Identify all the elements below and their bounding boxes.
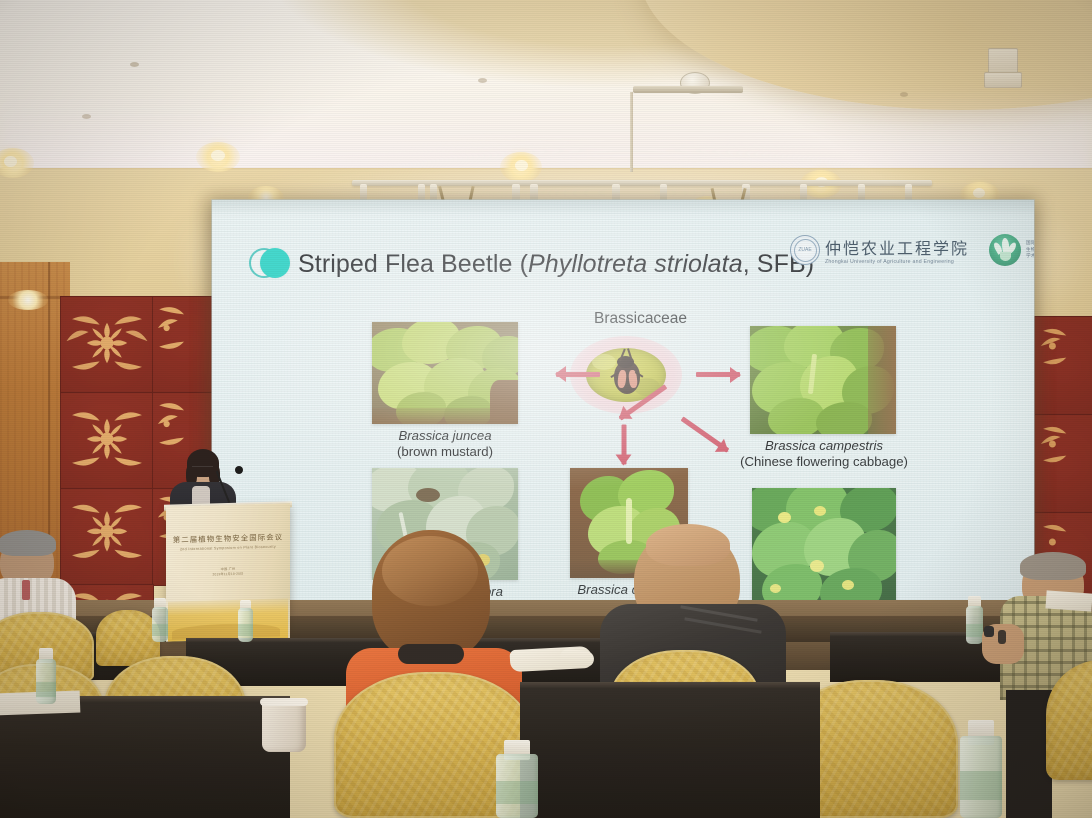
water-bottle[interactable] (496, 740, 538, 818)
attendee-center-right-scalp (646, 524, 730, 566)
table-edge (520, 682, 820, 688)
microphone-head (235, 466, 243, 474)
attendee-right-phone (984, 626, 994, 637)
conference-table (0, 700, 290, 818)
projector-drop-rod (630, 92, 633, 172)
track-light-rail (352, 180, 932, 186)
water-bottle[interactable] (238, 600, 253, 642)
podium-banner-english: 2nd International Symposium on Plant Bio… (166, 544, 290, 551)
ceiling-beam (633, 86, 743, 93)
ceiling-vent-grille (984, 72, 1022, 88)
water-bottle[interactable] (966, 596, 983, 644)
floral-lattice-pattern-icon (1035, 317, 1092, 375)
ceiling-fitting (478, 78, 487, 83)
floral-lattice-pattern-icon (61, 489, 153, 581)
speaker-head (190, 454, 216, 485)
water-bottle[interactable] (152, 598, 168, 642)
paper-cup[interactable] (262, 700, 306, 752)
conference-presentation-photo: Striped Flea Beetle (Phyllotreta striola… (0, 0, 1092, 818)
attendee-center-left-collar (398, 644, 464, 664)
ceiling-seam (0, 168, 1092, 169)
downlight-glow (8, 290, 48, 310)
ceiling-fitting (130, 62, 139, 67)
podium: 第二届植物生物安全国际会议 2nd International Symposiu… (166, 503, 290, 641)
attendee-left-hair (0, 530, 56, 556)
speaker-glasses (192, 466, 213, 473)
red-lattice-panel (60, 296, 154, 394)
paper-sheet (1045, 590, 1092, 611)
attendee-right-hair (1020, 552, 1086, 580)
downlight (211, 150, 225, 161)
screen-sheen (212, 200, 1034, 628)
podium-subtext: 中国·广州 2019年11月18-20日 (166, 565, 290, 579)
floral-lattice-pattern-icon (61, 297, 153, 389)
red-lattice-panel (60, 488, 154, 586)
red-lattice-panel (1034, 316, 1092, 416)
attendee-right-watch (998, 630, 1006, 644)
ceiling-fitting (82, 114, 91, 119)
water-bottle[interactable] (960, 720, 1002, 818)
red-lattice-panel (60, 392, 154, 490)
downlight (515, 160, 528, 171)
attendee-left-lanyard (22, 580, 30, 600)
podium-banner-chinese: 第二届植物生物安全国际会议 (166, 531, 290, 545)
projection-screen: Striped Flea Beetle (Phyllotreta striola… (212, 200, 1034, 628)
hair-highlight (382, 536, 478, 606)
downlight (4, 156, 17, 167)
ceiling-fitting (900, 92, 908, 97)
water-bottle[interactable] (36, 648, 56, 704)
paper-cup-rim (260, 698, 308, 706)
red-lattice-panel (1034, 414, 1092, 514)
conference-table (520, 686, 820, 818)
floral-lattice-pattern-icon (1035, 415, 1092, 473)
floral-lattice-pattern-icon (61, 393, 153, 485)
podium-banner-text: 第二届植物生物安全国际会议 2nd International Symposiu… (166, 531, 290, 551)
